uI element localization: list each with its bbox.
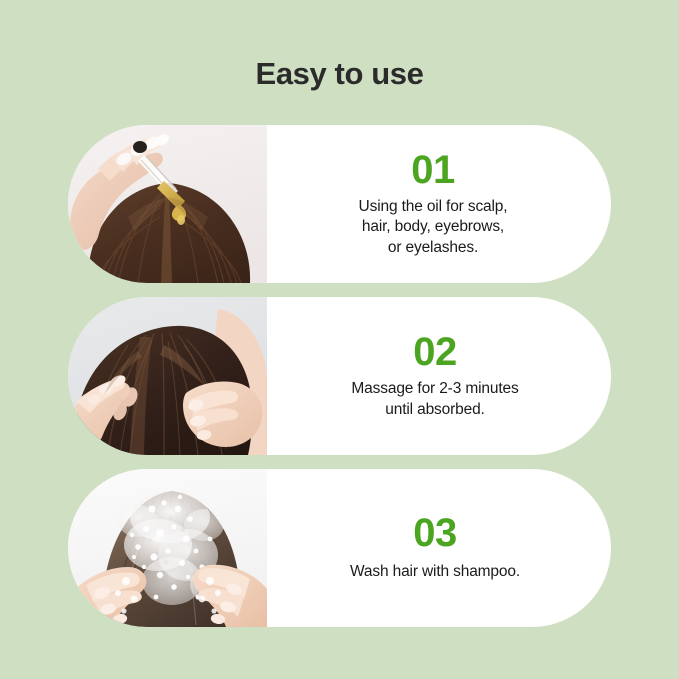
- step-image-scalp-massage: [68, 297, 267, 455]
- step-card: 03 Wash hair with shampoo.: [68, 469, 611, 627]
- step-card: 02 Massage for 2-3 minutes until absorbe…: [68, 297, 611, 455]
- steps-list: 01 Using the oil for scalp, hair, body, …: [68, 125, 611, 641]
- step-text: 01 Using the oil for scalp, hair, body, …: [267, 125, 611, 283]
- step-description: Massage for 2-3 minutes until absorbed.: [351, 379, 518, 420]
- step-image-oil-dropper: [68, 125, 267, 283]
- step-number: 03: [413, 513, 457, 553]
- step-card: 01 Using the oil for scalp, hair, body, …: [68, 125, 611, 283]
- infographic-page: Easy to use: [0, 0, 679, 679]
- step-number: 01: [411, 150, 455, 190]
- step-text: 02 Massage for 2-3 minutes until absorbe…: [267, 297, 611, 455]
- step-number: 02: [413, 332, 457, 372]
- step-text: 03 Wash hair with shampoo.: [267, 469, 611, 627]
- step-description: Using the oil for scalp, hair, body, eye…: [359, 197, 508, 258]
- step-description: Wash hair with shampoo.: [350, 562, 520, 582]
- page-title: Easy to use: [0, 56, 679, 92]
- step-image-shampoo-wash: [68, 469, 267, 627]
